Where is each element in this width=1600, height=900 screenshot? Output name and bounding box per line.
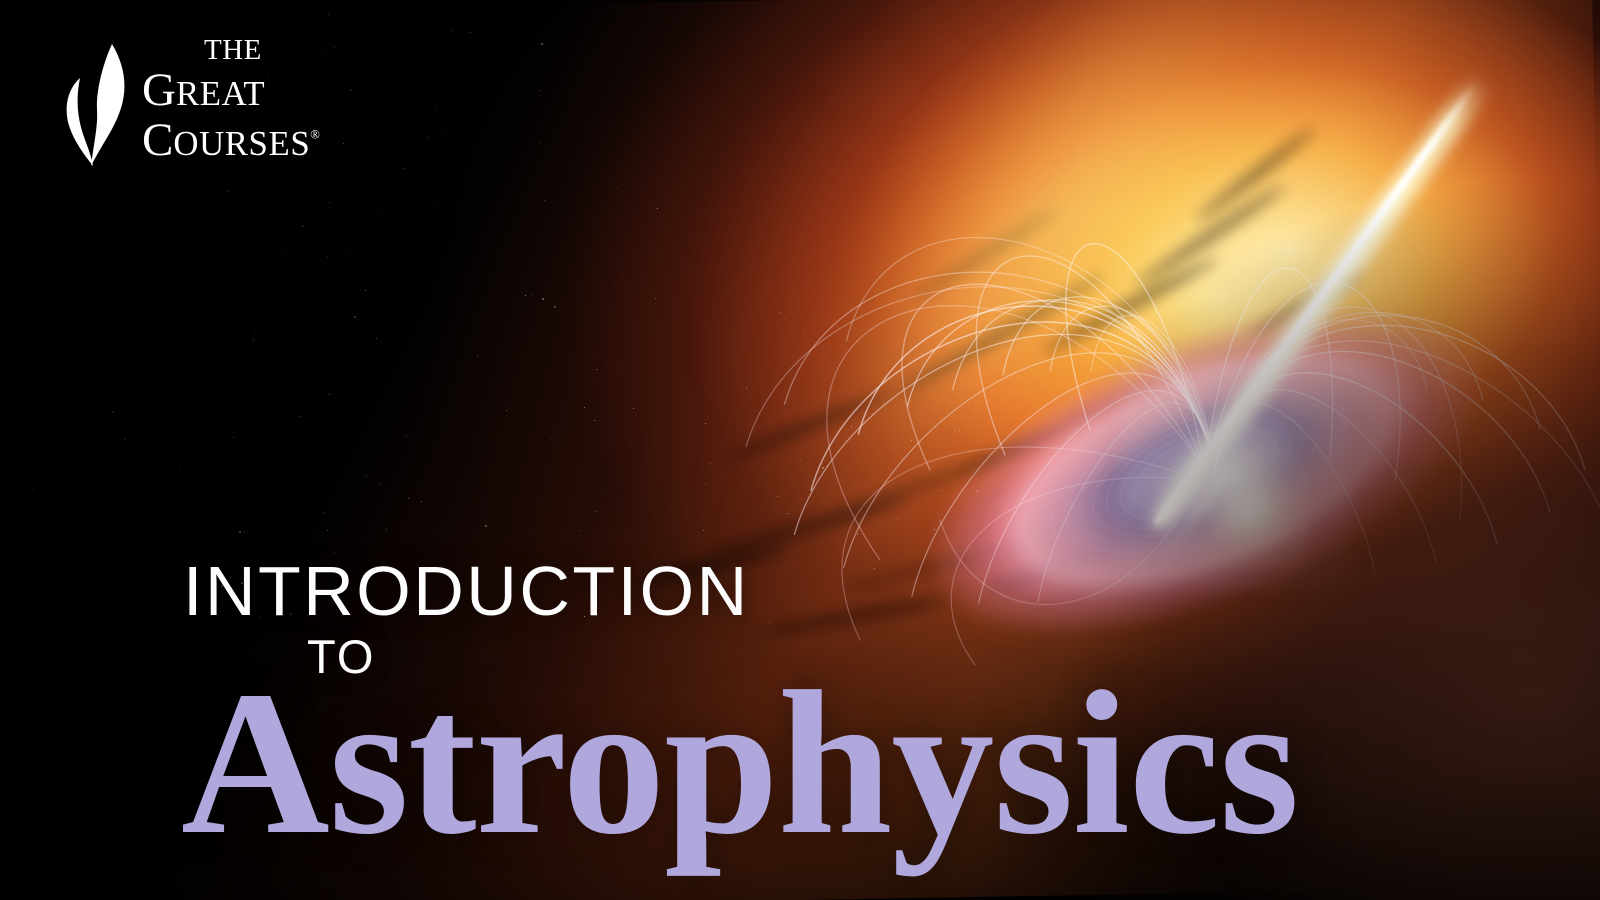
course-title-block: INTRODUCTION TO Astrophysics <box>0 0 1600 900</box>
title-line-astrophysics: Astrophysics <box>181 660 1298 866</box>
course-cover-artwork: THE GREAT COURSES® INTRODUCTION TO Astro… <box>0 0 1600 900</box>
title-line-introduction: INTRODUCTION <box>183 556 750 626</box>
